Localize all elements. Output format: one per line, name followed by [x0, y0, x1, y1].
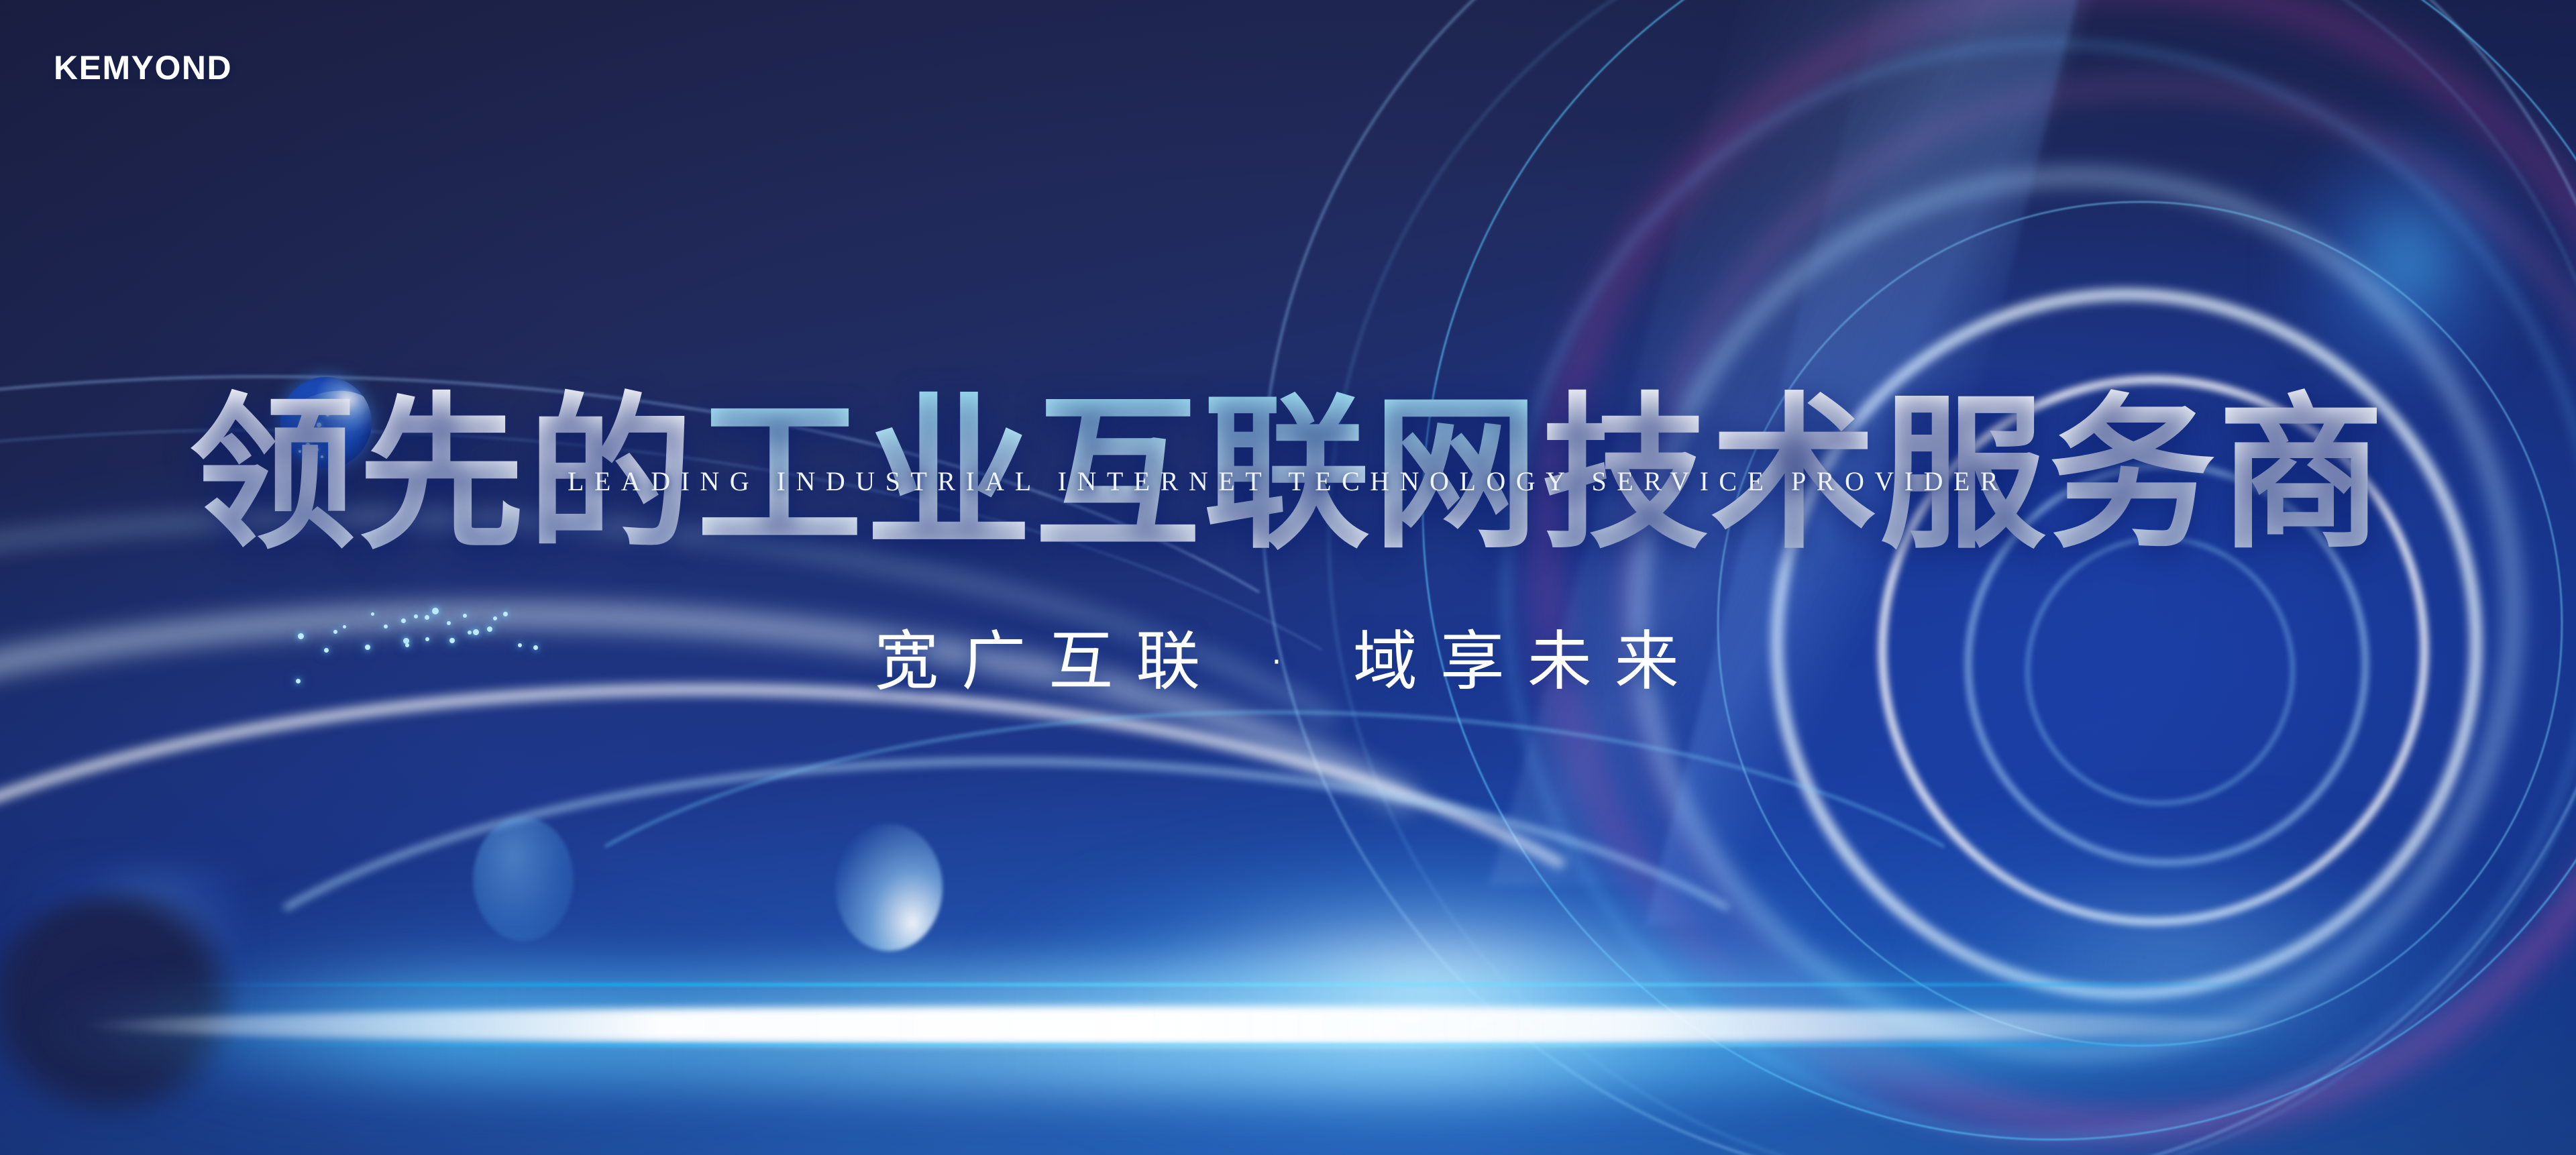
soft-orb-left	[473, 817, 574, 941]
subtitle-english: LEADING INDUSTRIAL INTERNET TECHNOLOGY S…	[0, 465, 2576, 497]
tagline-slogan: 宽广互联 · 域享未来	[0, 609, 2576, 702]
brand-logo[interactable]: KEMYOND	[54, 48, 232, 87]
marketing-banner: KEMYOND 领先的工业互联网技术服务商 LEADING INDUSTRIAL…	[0, 0, 2576, 1155]
soft-orb-right	[835, 824, 943, 951]
